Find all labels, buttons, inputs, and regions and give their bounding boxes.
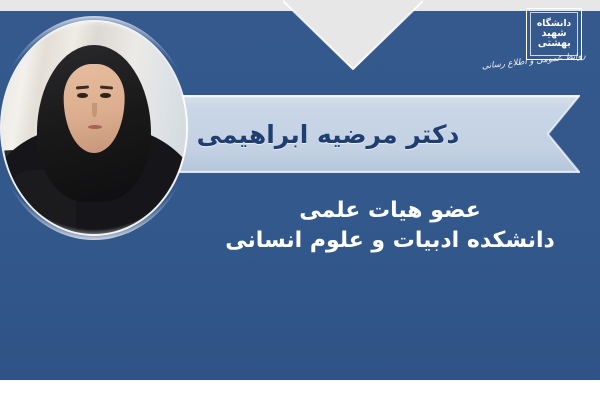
photo-eye-right bbox=[100, 93, 110, 98]
name-ribbon: دکتر مرضیه ابراهیمی bbox=[150, 95, 580, 173]
page-title: دکتر مرضیه ابراهیمی bbox=[150, 95, 546, 173]
avatar bbox=[0, 16, 192, 240]
photo-eye-left bbox=[77, 93, 87, 98]
university-logo: دانشگاه شهید بهشتی روابط عمومی و اطلاع ر… bbox=[484, 6, 588, 86]
faculty-role: عضو هیات علمی bbox=[190, 196, 590, 226]
avatar-photo bbox=[2, 22, 186, 234]
bottom-white-band bbox=[0, 380, 600, 400]
logo-line-3: بهشتی bbox=[538, 39, 571, 49]
faculty-profile-card: دانشگاه شهید بهشتی روابط عمومی و اطلاع ر… bbox=[0, 0, 600, 400]
faculty-department: دانشکده ادبیات و علوم انسانی bbox=[190, 226, 590, 256]
photo-nose bbox=[92, 103, 97, 118]
subtitle-block: عضو هیات علمی دانشکده ادبیات و علوم انسا… bbox=[190, 196, 590, 257]
logo-frame-inner: دانشگاه شهید بهشتی bbox=[530, 12, 578, 56]
top-v-notch bbox=[283, 0, 423, 70]
